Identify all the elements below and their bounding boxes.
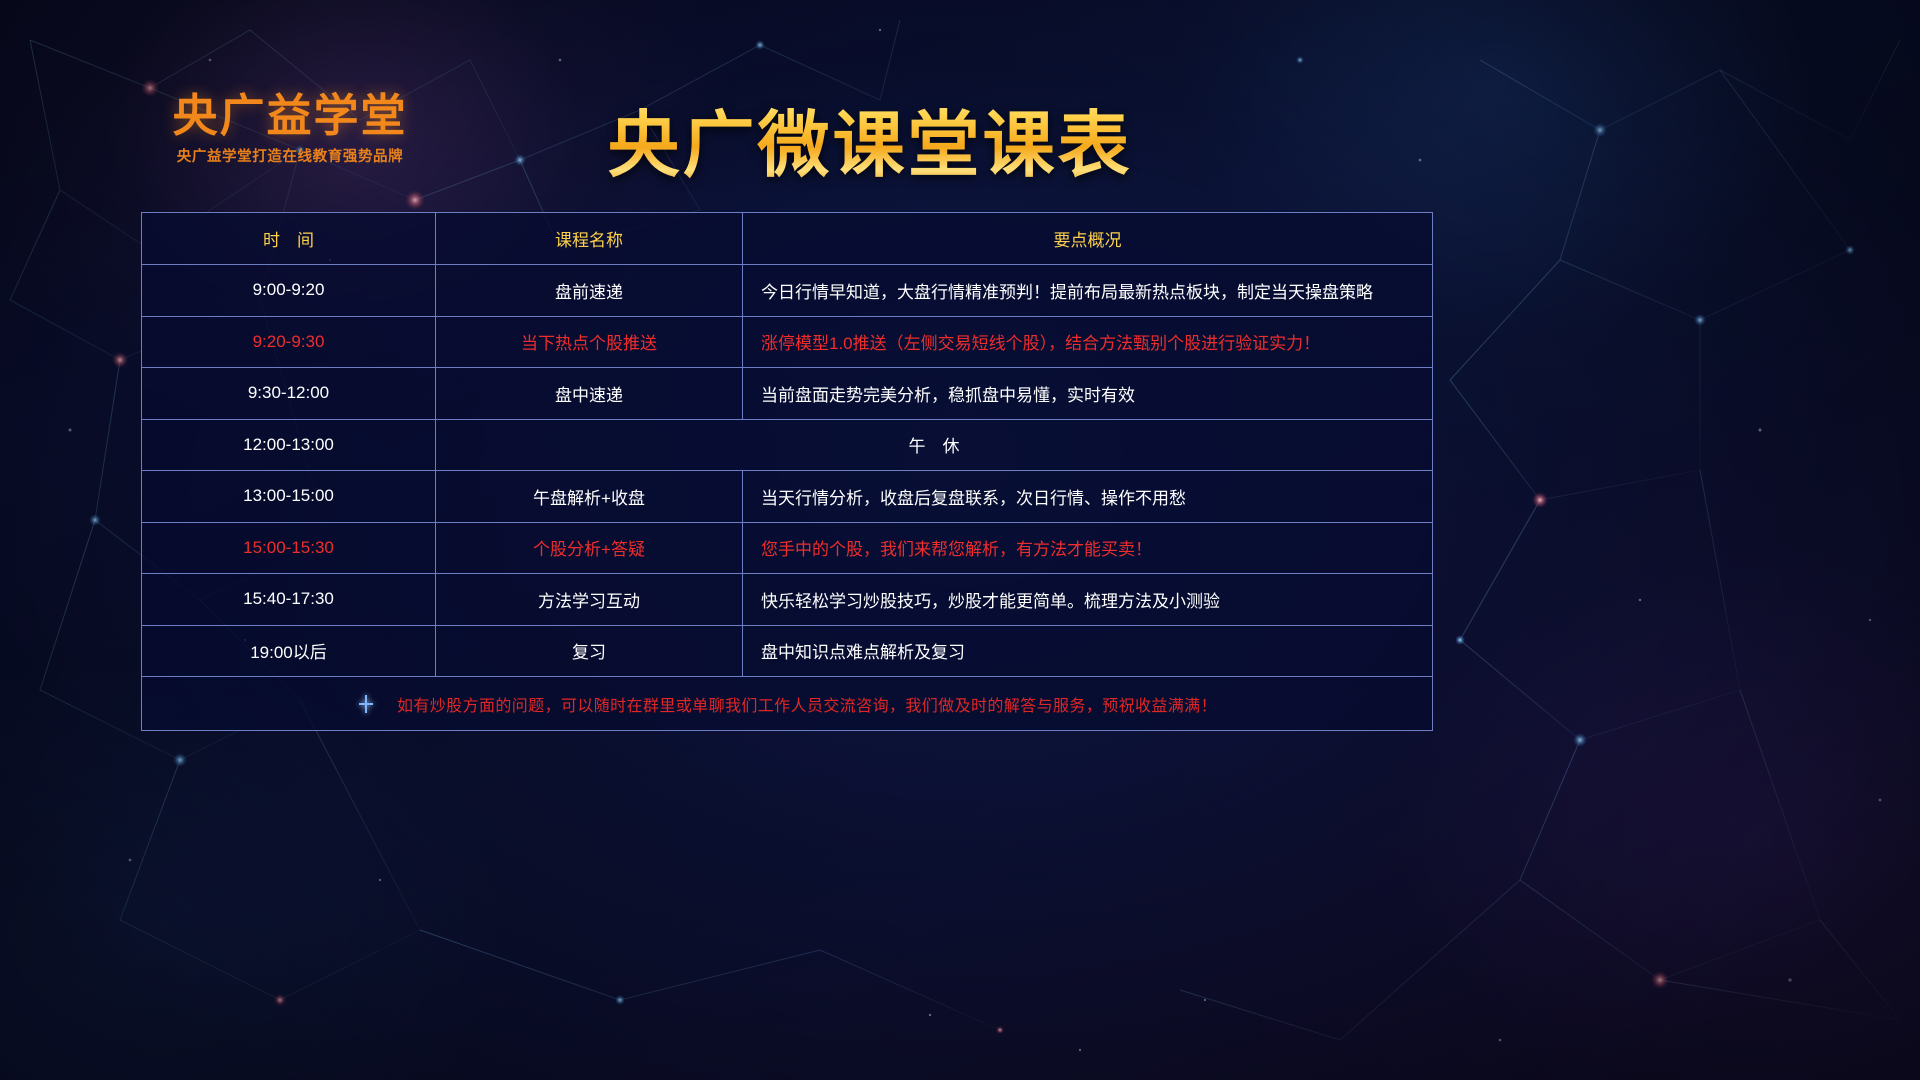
table-row: 15:40-17:30 方法学习互动 快乐轻松学习炒股技巧，炒股才能更简单。梳理… [142, 574, 1433, 626]
brand-tagline: 央广益学堂打造在线教育强势品牌 [140, 145, 440, 166]
cell-points: 当天行情分析，收盘后复盘联系，次日行情、操作不用愁 [743, 471, 1433, 523]
footer-note: 如有炒股方面的问题，可以随时在群里或单聊我们工作人员交流咨询，我们做及时的解答与… [397, 692, 1217, 716]
cell-course: 方法学习互动 [436, 574, 743, 626]
brand-logo: 央广益学堂 央广益学堂打造在线教育强势品牌 [140, 92, 440, 166]
table-row-lunch: 12:00-13:00 午 休 [142, 419, 1433, 471]
table-row: 19:00以后 复习 盘中知识点难点解析及复习 [142, 625, 1433, 677]
cell-points: 当前盘面走势完美分析，稳抓盘中易懂，实时有效 [743, 368, 1433, 420]
page-title: 央广微课堂课表 [560, 86, 1180, 191]
poster-canvas: 央广益学堂 央广益学堂打造在线教育强势品牌 央广微课堂课表 时 间 课程名称 要… [0, 0, 1920, 1080]
table-row: 13:00-15:00 午盘解析+收盘 当天行情分析，收盘后复盘联系，次日行情、… [142, 471, 1433, 523]
table-row: 15:00-15:30 个股分析+答疑 您手中的个股，我们来帮您解析，有方法才能… [142, 522, 1433, 574]
cell-course: 盘前速递 [436, 265, 743, 317]
footer-note-cell: 如有炒股方面的问题，可以随时在群里或单聊我们工作人员交流咨询，我们做及时的解答与… [142, 677, 1433, 731]
header-points: 要点概况 [743, 213, 1433, 265]
cell-course: 盘中速递 [436, 368, 743, 420]
table-row: 9:00-9:20 盘前速递 今日行情早知道，大盘行情精准预判！提前布局最新热点… [142, 265, 1433, 317]
schedule-table: 时 间 课程名称 要点概况 9:00-9:20 盘前速递 今日行情早知道，大盘行… [141, 212, 1433, 731]
header-time: 时 间 [142, 213, 436, 265]
table-header: 时 间 课程名称 要点概况 [142, 213, 1433, 265]
cell-time: 9:00-9:20 [142, 265, 436, 317]
cell-time: 9:30-12:00 [142, 368, 436, 420]
cell-time: 15:40-17:30 [142, 574, 436, 626]
cell-course: 个股分析+答疑 [436, 522, 743, 574]
cell-time: 19:00以后 [142, 625, 436, 677]
cell-time: 15:00-15:30 [142, 522, 436, 574]
cell-time: 12:00-13:00 [142, 419, 436, 471]
table-row: 9:20-9:30 当下热点个股推送 涨停模型1.0推送（左侧交易短线个股），结… [142, 316, 1433, 368]
cell-course: 午盘解析+收盘 [436, 471, 743, 523]
cell-points: 您手中的个股，我们来帮您解析，有方法才能买卖！ [743, 522, 1433, 574]
brand-name: 央广益学堂 [140, 92, 440, 139]
header-course: 课程名称 [436, 213, 743, 265]
cell-course: 复习 [436, 625, 743, 677]
cell-points: 盘中知识点难点解析及复习 [743, 625, 1433, 677]
cell-points: 快乐轻松学习炒股技巧，炒股才能更简单。梳理方法及小测验 [743, 574, 1433, 626]
cell-time: 9:20-9:30 [142, 316, 436, 368]
header-row: 时 间 课程名称 要点概况 [142, 213, 1433, 265]
cell-points: 涨停模型1.0推送（左侧交易短线个股），结合方法甄别个股进行验证实力！ [743, 316, 1433, 368]
cell-points-merged: 午 休 [436, 419, 1433, 471]
table-row: 9:30-12:00 盘中速递 当前盘面走势完美分析，稳抓盘中易懂，实时有效 [142, 368, 1433, 420]
cell-points: 今日行情早知道，大盘行情精准预判！提前布局最新热点板块，制定当天操盘策略 [743, 265, 1433, 317]
cell-time: 13:00-15:00 [142, 471, 436, 523]
sparkle-icon [357, 695, 375, 713]
table-body: 9:00-9:20 盘前速递 今日行情早知道，大盘行情精准预判！提前布局最新热点… [142, 265, 1433, 731]
table-footer-row: 如有炒股方面的问题，可以随时在群里或单聊我们工作人员交流咨询，我们做及时的解答与… [142, 677, 1433, 731]
cell-course: 当下热点个股推送 [436, 316, 743, 368]
